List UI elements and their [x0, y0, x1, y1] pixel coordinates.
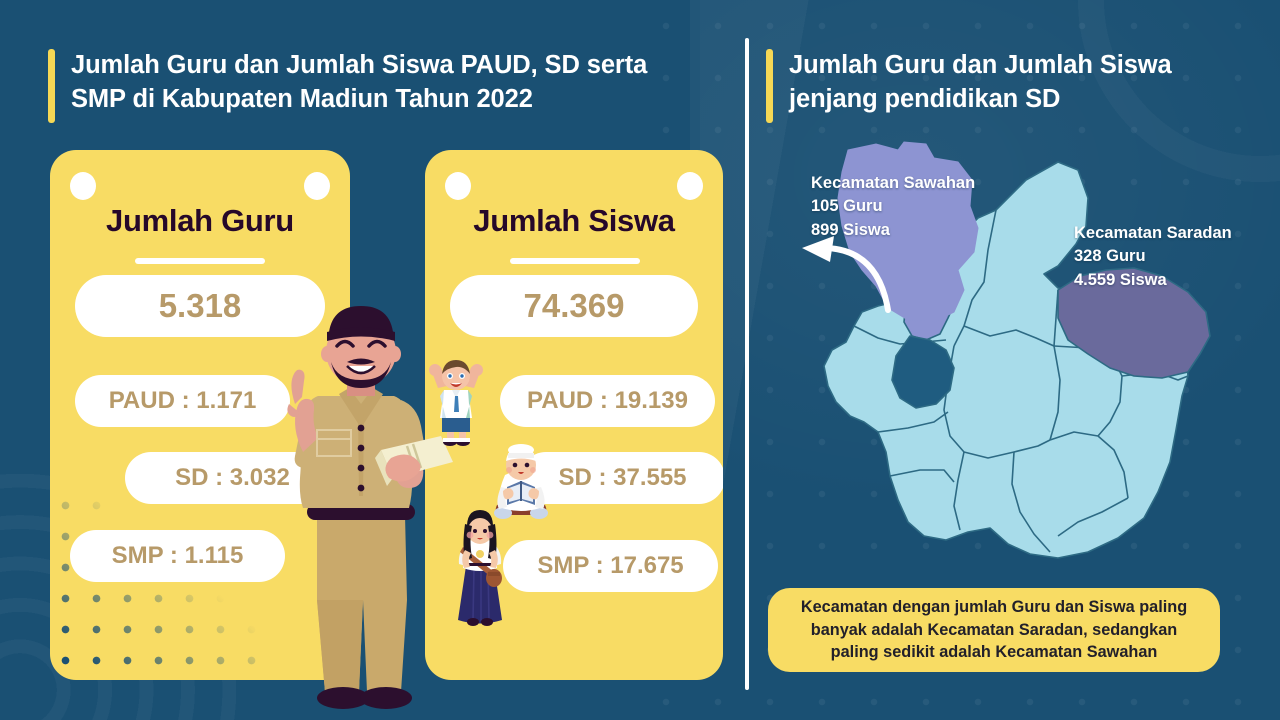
right-title: Jumlah Guru dan Jumlah Siswa jenjang pen…	[766, 49, 1172, 123]
title-accent-bar	[766, 49, 773, 123]
card-heading: Jumlah Siswa	[425, 203, 723, 239]
student-boy-illustration	[428, 358, 484, 446]
card-underline	[510, 258, 640, 264]
guru-smp-value: SMP : 1.115	[70, 530, 285, 582]
map-label-sawahan: Kecamatan Sawahan 105 Guru 899 Siswa	[811, 172, 975, 242]
left-title-text: Jumlah Guru dan Jumlah Siswa PAUD, SD se…	[71, 49, 647, 117]
card-heading: Jumlah Guru	[50, 203, 350, 239]
map-caption: Kecamatan dengan jumlah Guru dan Siswa p…	[768, 588, 1220, 672]
map-label-saradan: Kecamatan Saradan 328 Guru 4.559 Siswa	[1074, 222, 1232, 292]
siswa-total-value: 74.369	[450, 275, 698, 337]
card-punch-hole-right	[677, 172, 703, 200]
left-title: Jumlah Guru dan Jumlah Siswa PAUD, SD se…	[48, 49, 647, 123]
title-accent-bar	[48, 49, 55, 123]
card-punch-hole-left	[445, 172, 471, 200]
card-punch-hole-left	[70, 172, 96, 200]
infographic-canvas: Jumlah Guru dan Jumlah Siswa PAUD, SD se…	[0, 0, 1280, 720]
vertical-divider	[745, 38, 749, 690]
siswa-paud-value: PAUD : 19.139	[500, 375, 715, 427]
right-title-text: Jumlah Guru dan Jumlah Siswa jenjang pen…	[789, 49, 1172, 117]
siswa-smp-value: SMP : 17.675	[503, 540, 718, 592]
student-girl-illustration	[450, 508, 510, 628]
card-punch-hole-right	[304, 172, 330, 200]
card-underline	[135, 258, 265, 264]
dot-texture	[50, 490, 265, 680]
